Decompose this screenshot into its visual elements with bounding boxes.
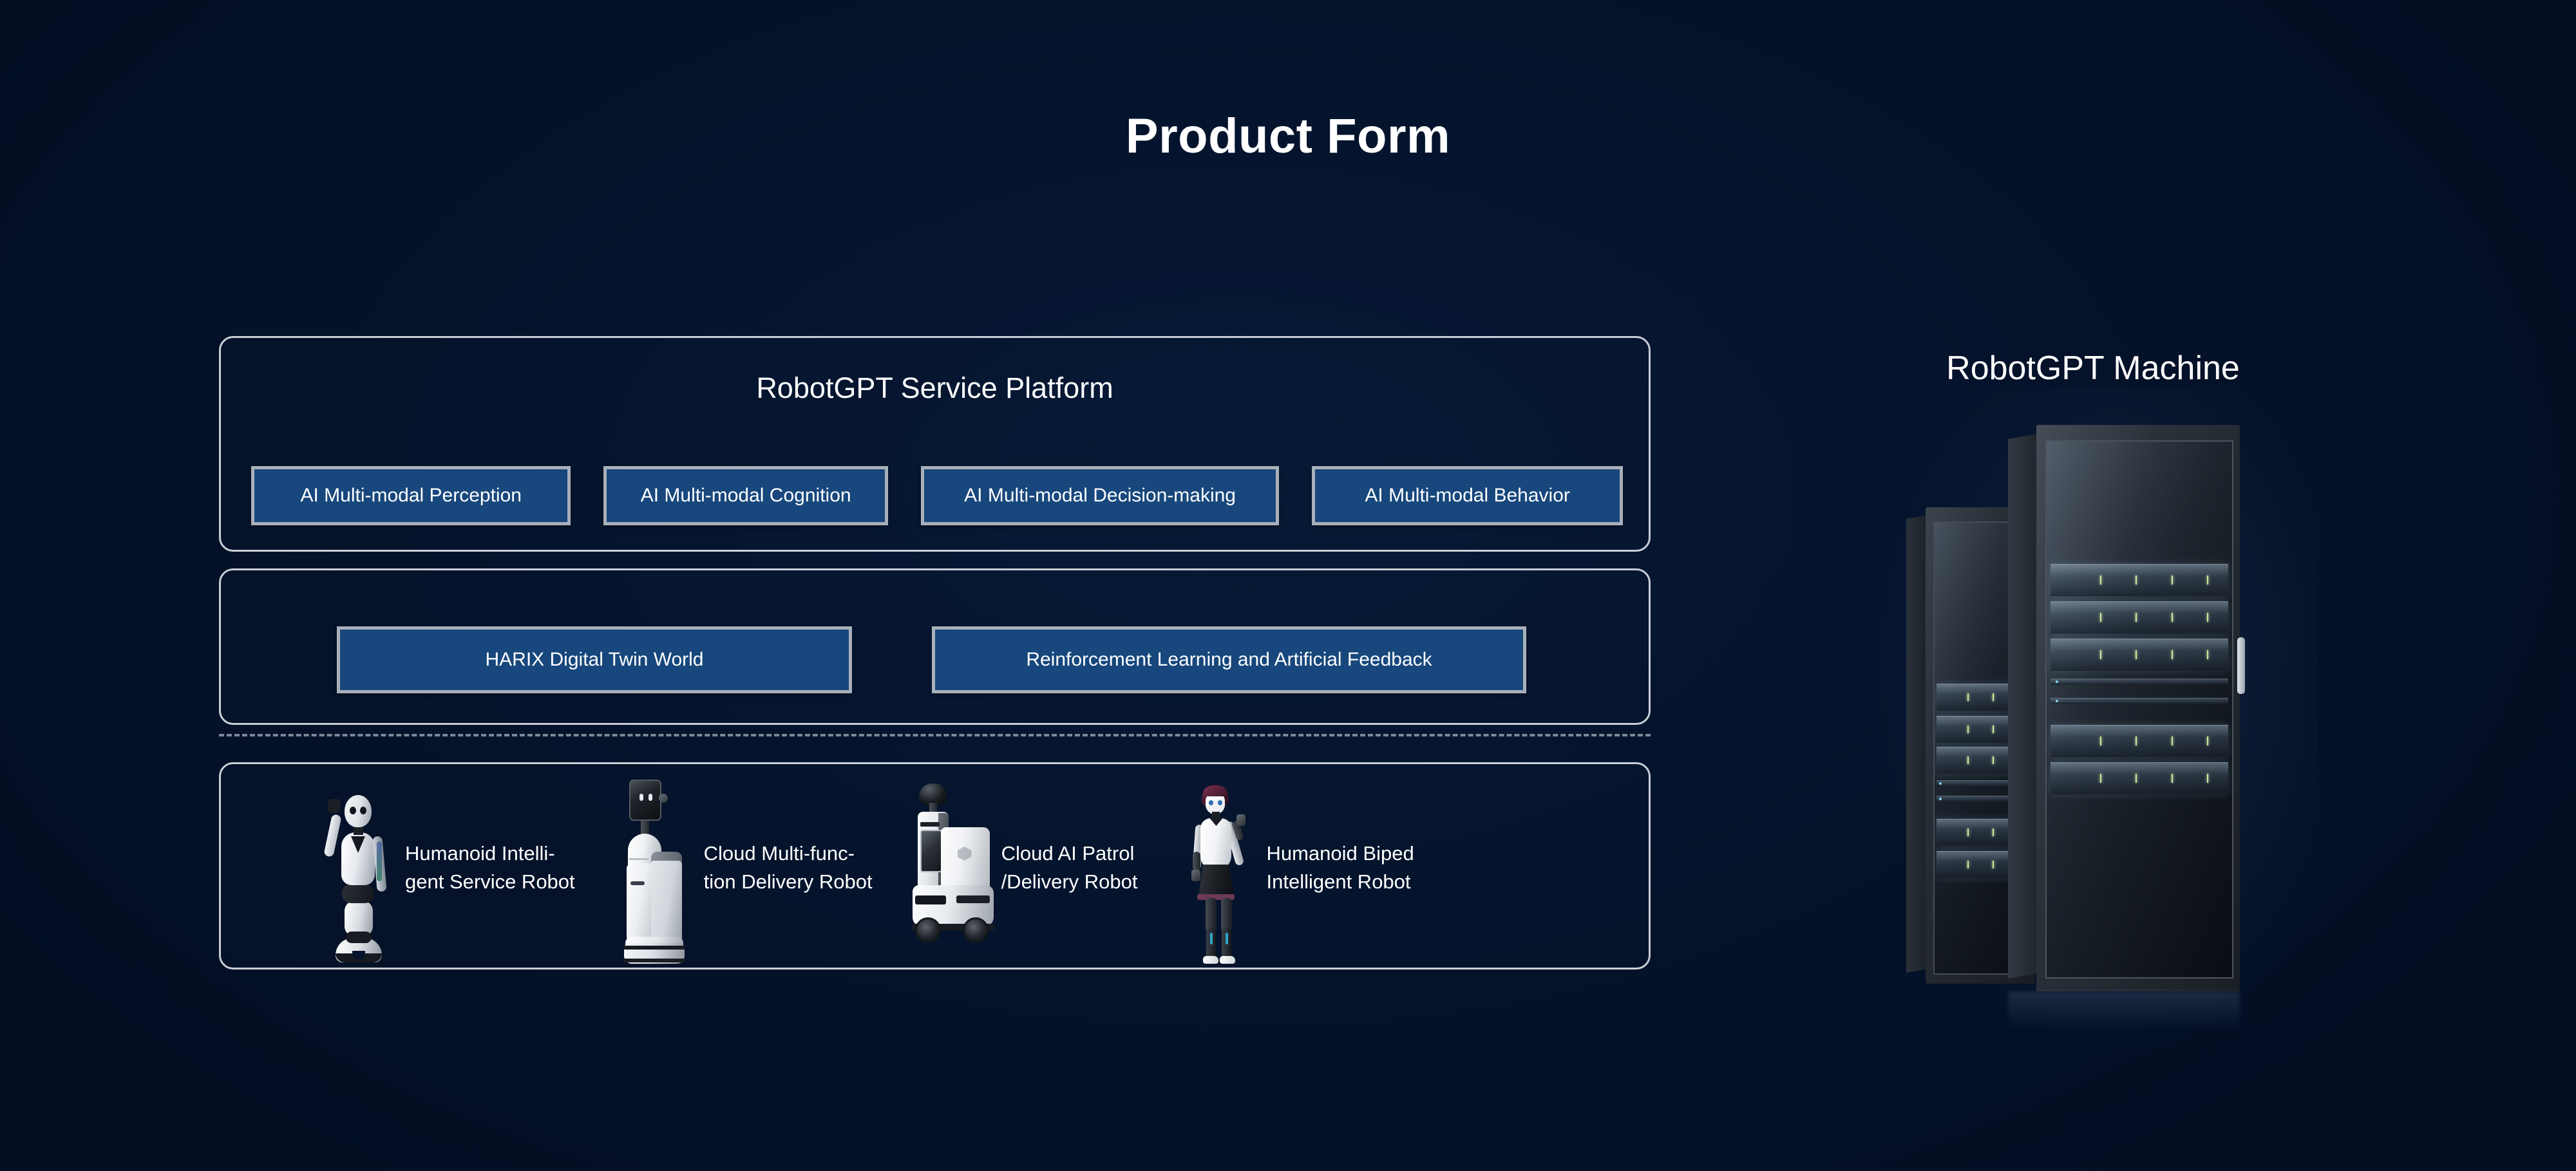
robots-panel: Humanoid Intelli- gent Service Robot	[219, 762, 1651, 970]
page-title: Product Form	[0, 108, 2576, 164]
harix-panel: HARIX Digital Twin World Reinforcement L…	[219, 568, 1651, 725]
chip-ai-multimodal-perception[interactable]: AI Multi-modal Perception	[251, 466, 571, 525]
chip-ai-multimodal-decision-making[interactable]: AI Multi-modal Decision-making	[921, 466, 1279, 525]
server-rack-front	[2008, 425, 2240, 991]
humanoid-biped-robot-icon	[1166, 774, 1262, 961]
machine-column: RobotGPT Machine	[1848, 335, 2338, 1043]
robot-label-humanoid-service: Humanoid Intelli- gent Service Robot	[405, 839, 575, 896]
chip-harix-digital-twin-world[interactable]: HARIX Digital Twin World	[337, 626, 852, 693]
robot-item-cloud-patrol[interactable]: Cloud AI Patrol /Delivery Robot	[901, 774, 1138, 961]
chip-reinforcement-learning-feedback[interactable]: Reinforcement Learning and Artificial Fe…	[932, 626, 1526, 693]
humanoid-service-robot-icon	[305, 774, 401, 961]
rack-door-handle[interactable]	[2237, 637, 2245, 694]
chip-ai-multimodal-behavior[interactable]: AI Multi-modal Behavior	[1312, 466, 1623, 525]
robot-item-cloud-delivery[interactable]: Cloud Multi-func- tion Delivery Robot	[603, 774, 873, 961]
platform-chip-row: AI Multi-modal Perception AI Multi-modal…	[251, 466, 1623, 525]
cloud-patrol-robot-icon	[901, 774, 998, 961]
cloud-delivery-robot-icon	[603, 774, 700, 961]
chip-ai-multimodal-cognition[interactable]: AI Multi-modal Cognition	[603, 466, 887, 525]
rack-front-glass-door	[2045, 440, 2233, 979]
robot-label-cloud-patrol: Cloud AI Patrol /Delivery Robot	[1001, 839, 1138, 896]
platform-panel-title: RobotGPT Service Platform	[221, 371, 1649, 405]
robot-label-humanoid-biped: Humanoid Biped Intelligent Robot	[1266, 839, 1414, 896]
robot-item-humanoid-biped[interactable]: Humanoid Biped Intelligent Robot	[1166, 774, 1414, 961]
platform-panel: RobotGPT Service Platform AI Multi-modal…	[219, 336, 1651, 552]
robot-label-cloud-delivery: Cloud Multi-func- tion Delivery Robot	[704, 839, 873, 896]
machine-title: RobotGPT Machine	[1848, 349, 2338, 388]
robot-row: Humanoid Intelli- gent Service Robot	[240, 764, 1631, 971]
server-rack-pair-icon	[1906, 425, 2280, 1024]
robot-item-humanoid-service[interactable]: Humanoid Intelli- gent Service Robot	[305, 774, 575, 961]
section-divider	[219, 734, 1651, 736]
harix-chip-row: HARIX Digital Twin World Reinforcement L…	[337, 626, 1541, 693]
